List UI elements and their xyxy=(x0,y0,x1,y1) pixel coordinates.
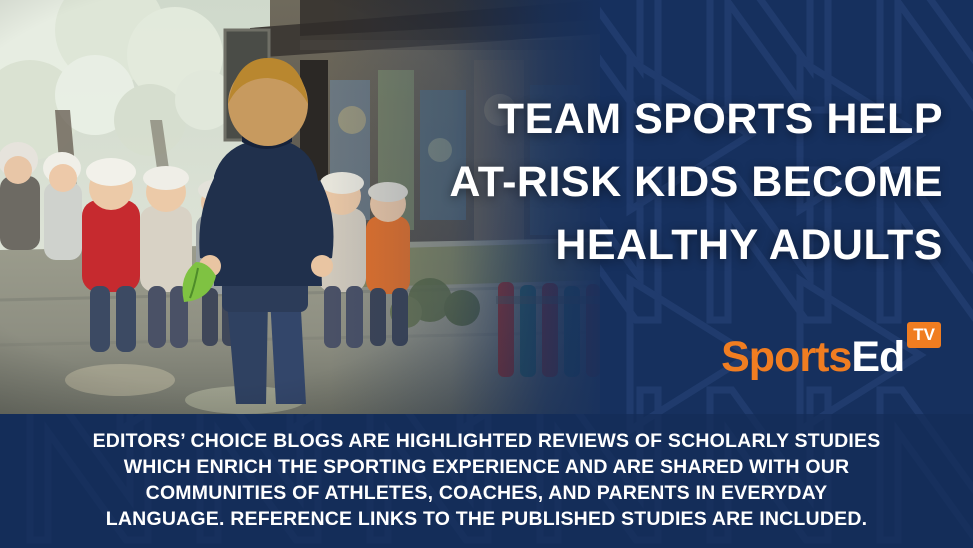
sportsedtv-logo[interactable]: SportsEd TV xyxy=(721,336,941,390)
logo-text-ed: Ed xyxy=(851,336,904,379)
logo-tv-badge: TV xyxy=(907,322,941,348)
headline-line-2: AT-RISK KIDS BECOME xyxy=(323,151,943,214)
caption-bar: EDITORS’ CHOICE BLOGS ARE HIGHLIGHTED RE… xyxy=(0,414,973,548)
caption-line-1: EDITORS’ CHOICE BLOGS ARE HIGHLIGHTED RE… xyxy=(47,429,927,455)
caption-text: EDITORS’ CHOICE BLOGS ARE HIGHLIGHTED RE… xyxy=(47,429,927,533)
headline: TEAM SPORTS HELP AT-RISK KIDS BECOME HEA… xyxy=(323,88,943,278)
caption-lead: EDITORS’ CHOICE xyxy=(93,430,268,452)
caption-line-1-rest: BLOGS ARE HIGHLIGHTED REVIEWS OF SCHOLAR… xyxy=(267,430,880,452)
logo-tv-label: TV xyxy=(907,322,941,348)
headline-line-3: HEALTHY ADULTS xyxy=(323,214,943,277)
caption-line-4: LANGUAGE. REFERENCE LINKS TO THE PUBLISH… xyxy=(47,507,927,533)
caption-line-2: WHICH ENRICH THE SPORTING EXPERIENCE AND… xyxy=(47,455,927,481)
promo-graphic: TEAM SPORTS HELP AT-RISK KIDS BECOME HEA… xyxy=(0,0,973,548)
logo-text-sports: Sports xyxy=(721,336,851,379)
headline-line-1: TEAM SPORTS HELP xyxy=(323,88,943,151)
logo-wordmark: SportsEd xyxy=(721,336,904,379)
caption-line-3: COMMUNITIES OF ATHLETES, COACHES, AND PA… xyxy=(47,481,927,507)
